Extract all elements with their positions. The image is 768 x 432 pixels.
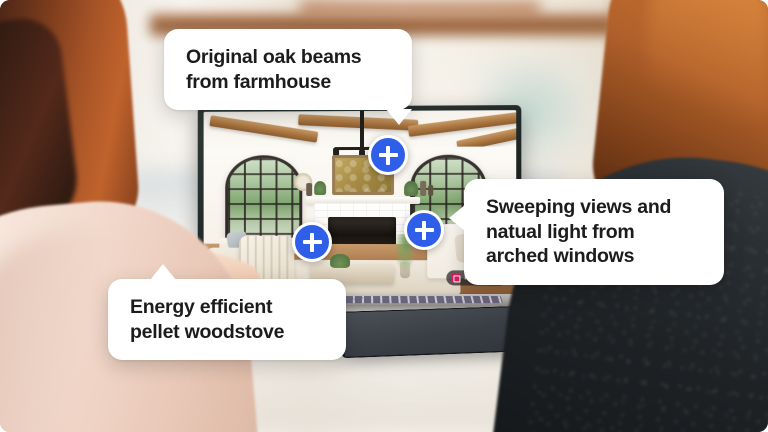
tooltip-tail-left-icon bbox=[449, 205, 465, 231]
tooltip-card-stove[interactable]: Energy efficient pellet woodstove bbox=[108, 279, 346, 360]
decor-vase bbox=[428, 185, 433, 196]
tooltip-card-beams[interactable]: Original oak beams from farmhouse bbox=[164, 29, 412, 110]
decor-vase bbox=[420, 181, 426, 196]
hotspot-plus-icon-windows[interactable] bbox=[404, 210, 444, 250]
tooltip-card-windows[interactable]: Sweeping views and natual light from arc… bbox=[464, 179, 724, 285]
hotspot-plus-icon-stove[interactable] bbox=[292, 222, 332, 262]
chandelier-rod bbox=[360, 111, 364, 151]
hotspot-plus-icon-beams[interactable] bbox=[368, 135, 408, 175]
tooltip-tail-down-icon bbox=[386, 109, 412, 125]
decor-vase bbox=[306, 183, 312, 196]
screenshot-root: Matterport MacBook Pro Original oak bbox=[0, 0, 768, 432]
table-plant bbox=[330, 254, 350, 268]
tooltip-tail-up-icon bbox=[150, 264, 176, 280]
decor-plant bbox=[314, 181, 326, 195]
tooltip-text-windows: Sweeping views and natual light from arc… bbox=[486, 195, 702, 269]
background-window-frame-bar-upper bbox=[300, 0, 540, 16]
matterport-logo-icon bbox=[451, 273, 460, 282]
decor-plant bbox=[404, 181, 418, 196]
viewer-right-hair-highlight bbox=[648, 0, 768, 158]
tooltip-text-stove: Energy efficient pellet woodstove bbox=[130, 295, 324, 344]
tooltip-text-beams: Original oak beams from farmhouse bbox=[186, 45, 390, 94]
